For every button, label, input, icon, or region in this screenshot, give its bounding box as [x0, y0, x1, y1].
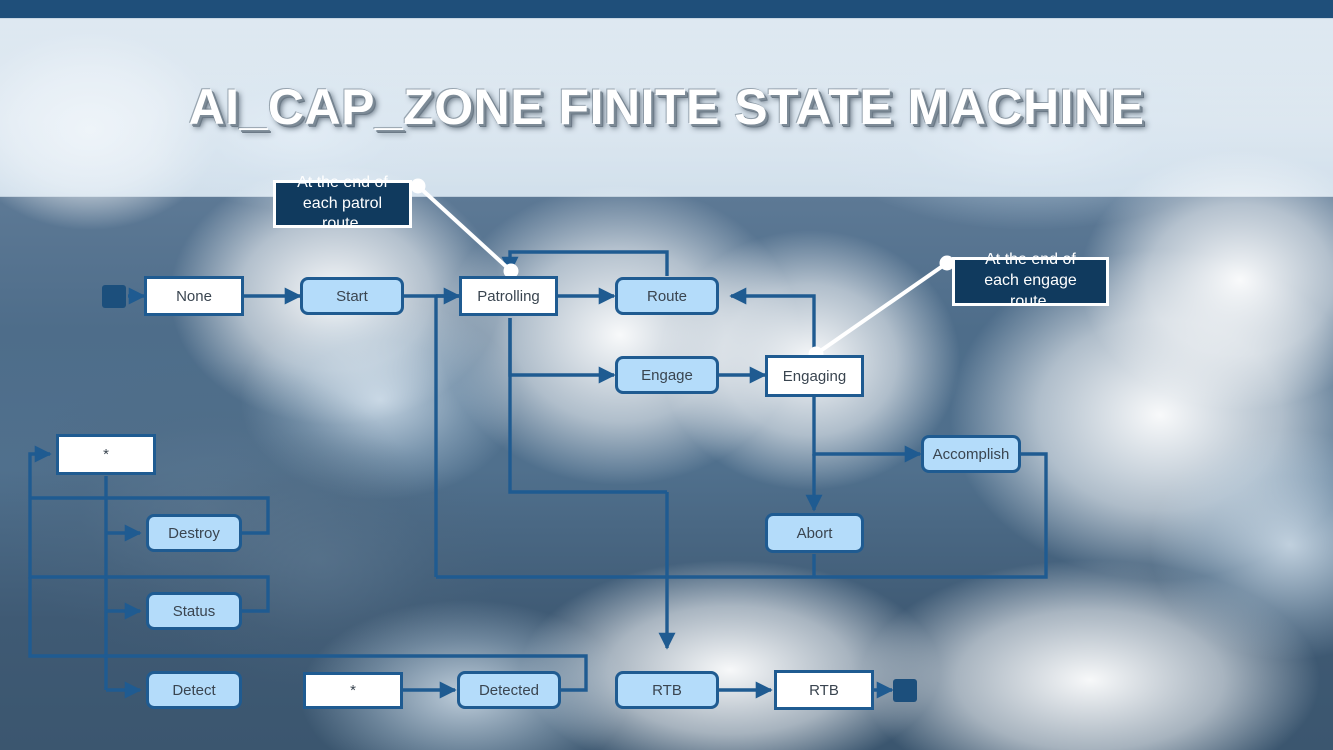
callout-line-1: At the end of — [297, 173, 388, 194]
state-node-engaging[interactable]: Engaging — [765, 355, 864, 397]
node-label: Detect — [172, 683, 215, 698]
node-label: Start — [336, 289, 368, 304]
state-node-detected[interactable]: Detected — [457, 671, 561, 709]
node-label: Engage — [641, 368, 693, 383]
callout-line-2: each engage route. — [965, 271, 1096, 313]
node-label: Destroy — [168, 526, 220, 541]
node-label: None — [176, 289, 212, 304]
state-node-start[interactable]: Start — [300, 277, 404, 315]
node-label: Detected — [479, 683, 539, 698]
state-node-destroy[interactable]: Destroy — [146, 514, 242, 552]
state-node-status[interactable]: Status — [146, 592, 242, 630]
state-node-route[interactable]: Route — [615, 277, 719, 315]
callout-patrol-note[interactable]: At the end of each patrol route. — [273, 180, 412, 228]
end-terminator — [893, 679, 917, 702]
state-node-none[interactable]: None — [144, 276, 244, 316]
node-label: * — [350, 683, 356, 698]
callout-engage-note[interactable]: At the end of each engage route. — [952, 257, 1109, 306]
state-node-accomplish[interactable]: Accomplish — [921, 435, 1021, 473]
callout-line-1: At the end of — [985, 250, 1076, 271]
node-label: RTB — [652, 683, 682, 698]
state-node-any-upper[interactable]: * — [56, 434, 156, 475]
state-node-abort[interactable]: Abort — [765, 513, 864, 553]
state-node-any-lower[interactable]: * — [303, 672, 403, 709]
node-label: Patrolling — [477, 289, 540, 304]
node-label: Abort — [797, 526, 833, 541]
slide-canvas: AI_CAP_ZONE FINITE STATE MACHINE — [0, 0, 1333, 750]
state-node-detect[interactable]: Detect — [146, 671, 242, 709]
node-label: Engaging — [783, 369, 846, 384]
node-label: Route — [647, 289, 687, 304]
start-terminator — [102, 285, 126, 308]
node-label: * — [103, 447, 109, 462]
node-label: RTB — [809, 683, 839, 698]
callout-line-2: each patrol route. — [286, 194, 399, 236]
state-node-rtb-transition[interactable]: RTB — [615, 671, 719, 709]
node-label: Status — [173, 604, 216, 619]
state-node-rtb-state[interactable]: RTB — [774, 670, 874, 710]
node-label: Accomplish — [933, 447, 1010, 462]
state-node-engage[interactable]: Engage — [615, 356, 719, 394]
state-node-patrolling[interactable]: Patrolling — [459, 276, 558, 316]
